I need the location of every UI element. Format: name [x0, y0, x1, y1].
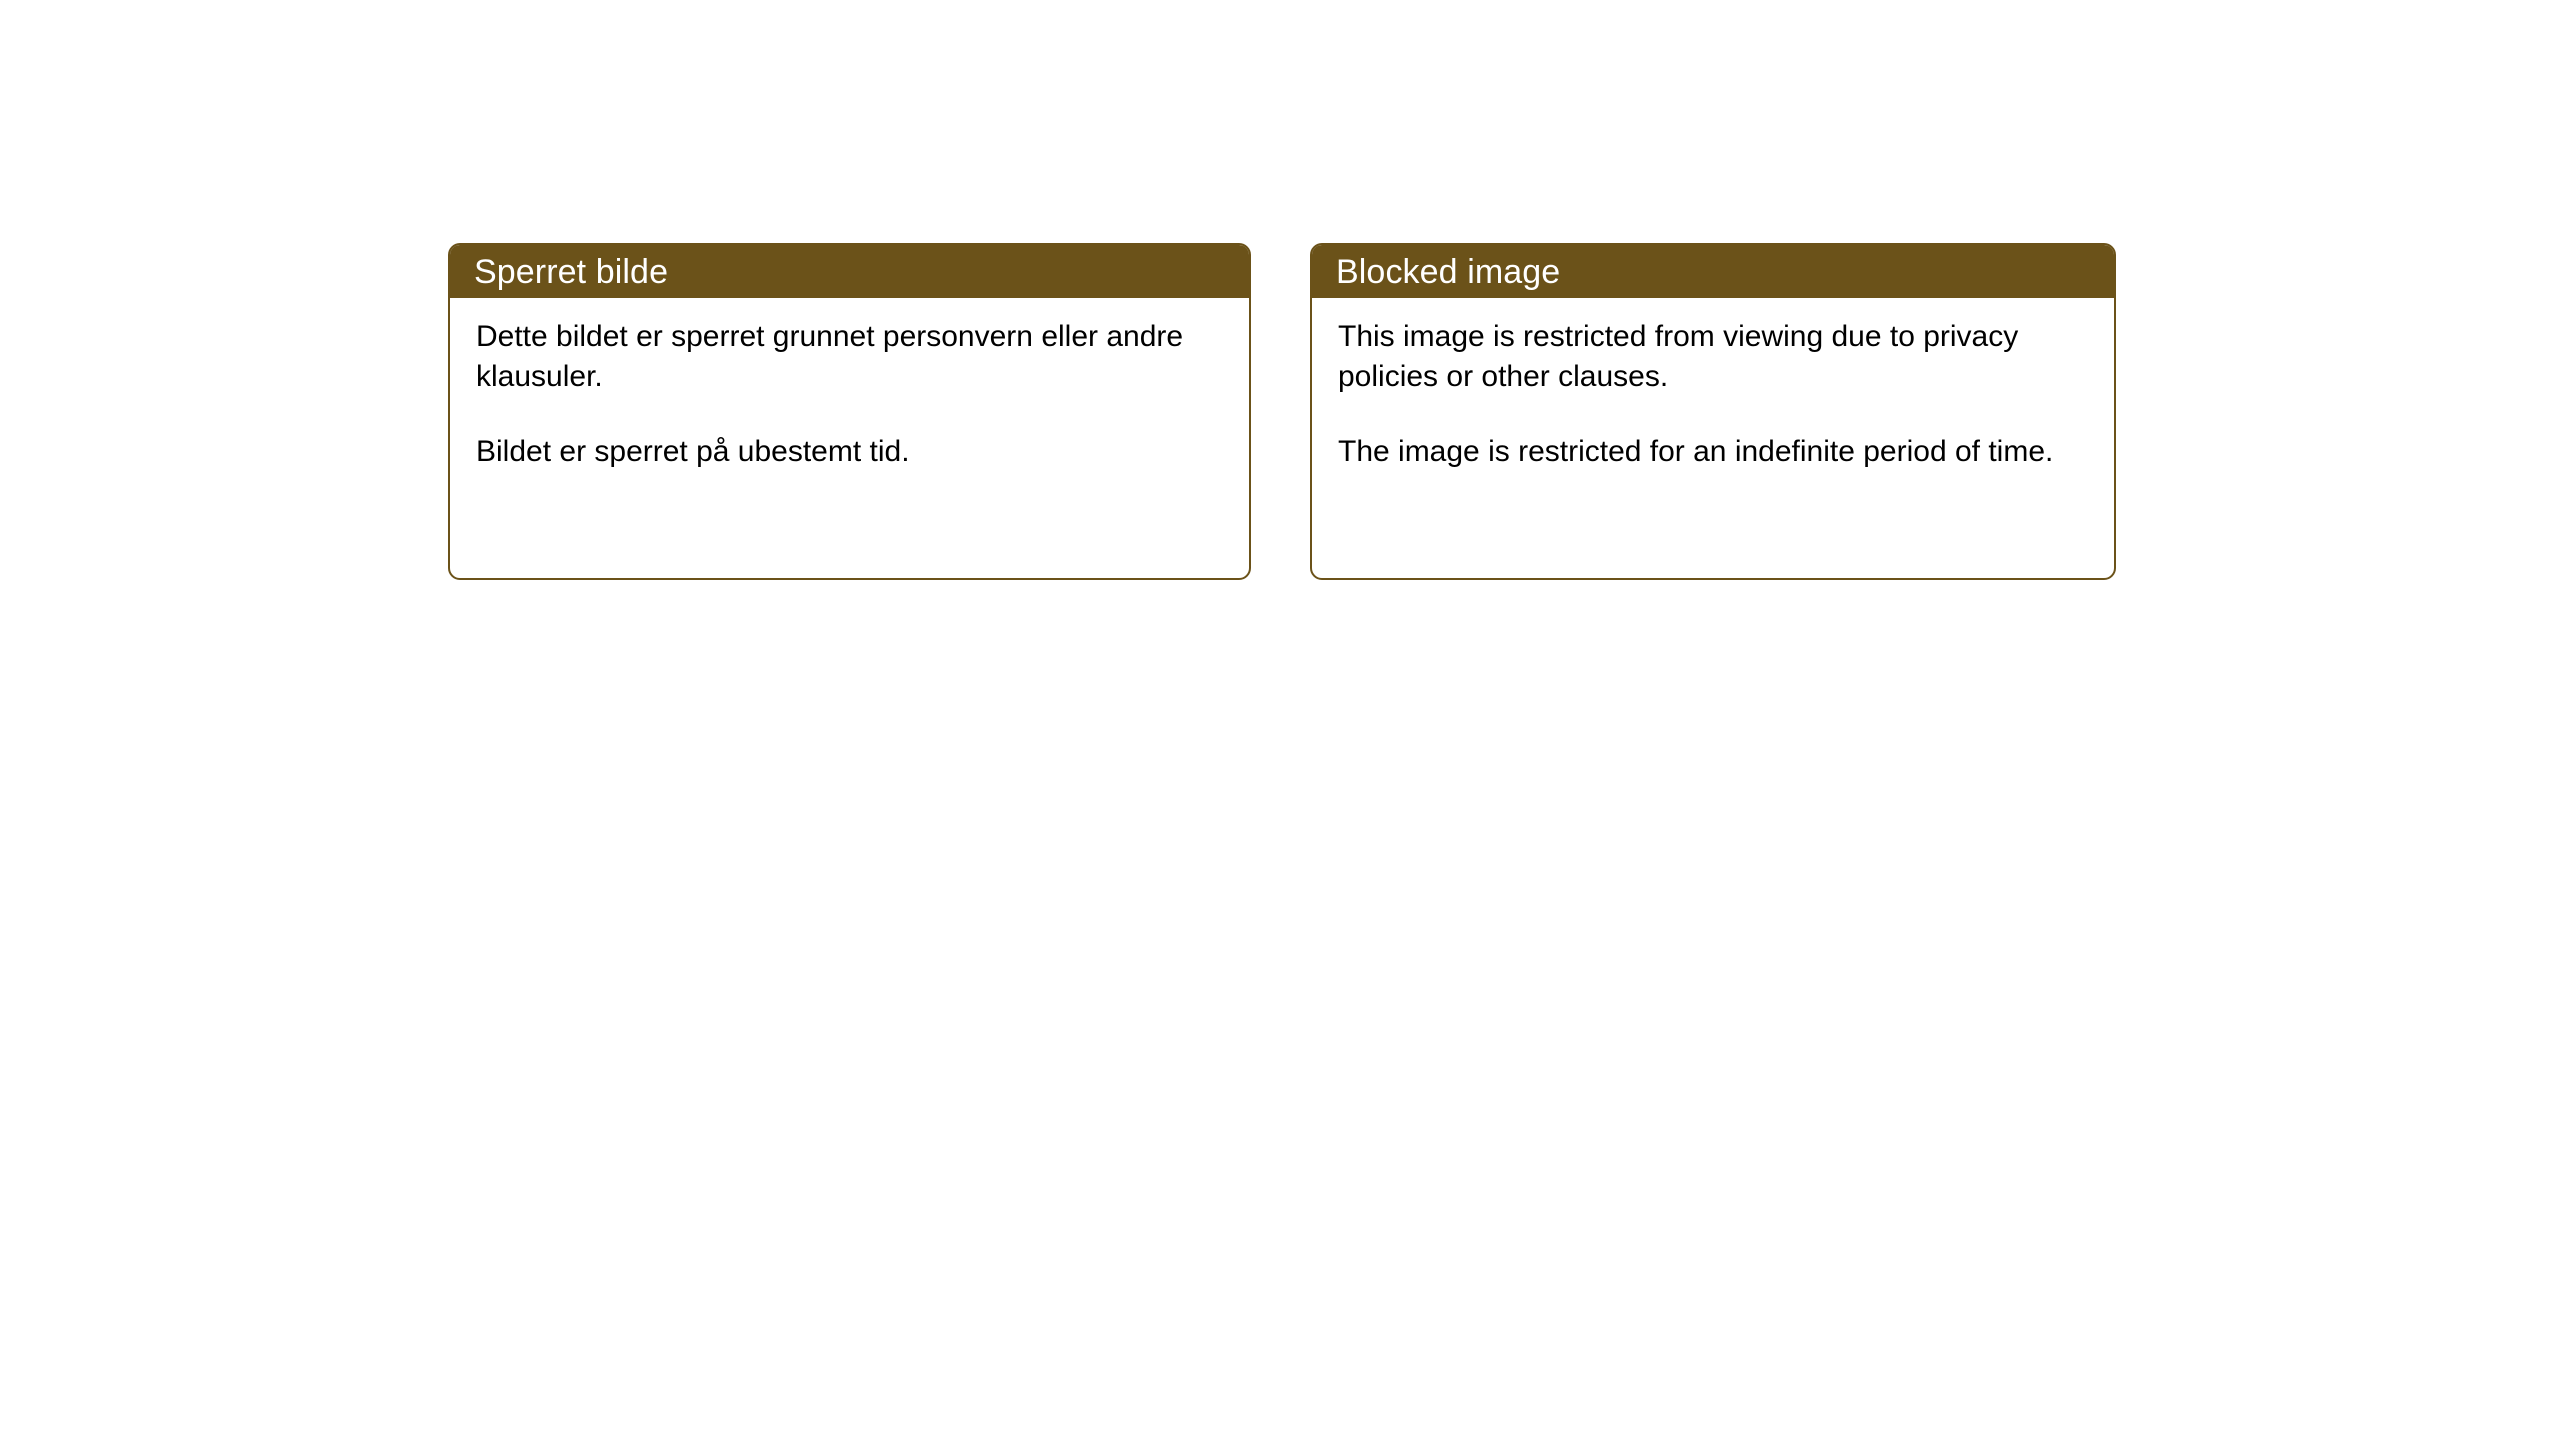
panel-header-english: Blocked image	[1310, 243, 2116, 298]
panel-paragraph-reason-english: This image is restricted from viewing du…	[1338, 317, 2092, 396]
panel-title-norwegian: Sperret bilde	[474, 255, 668, 289]
panel-paragraph-duration-english: The image is restricted for an indefinit…	[1338, 432, 2092, 472]
panel-paragraph-reason-norwegian: Dette bildet er sperret grunnet personve…	[476, 317, 1227, 396]
panel-body-norwegian: Dette bildet er sperret grunnet personve…	[450, 298, 1249, 472]
blocked-image-notice-panel-english: Blocked image This image is restricted f…	[1310, 243, 2116, 580]
panel-title-english: Blocked image	[1336, 255, 1560, 289]
panel-body-english: This image is restricted from viewing du…	[1312, 298, 2114, 472]
panel-header-norwegian: Sperret bilde	[448, 243, 1251, 298]
page-canvas: Sperret bilde Dette bildet er sperret gr…	[0, 0, 2560, 1440]
blocked-image-notice-panel-norwegian: Sperret bilde Dette bildet er sperret gr…	[448, 243, 1251, 580]
panel-paragraph-duration-norwegian: Bildet er sperret på ubestemt tid.	[476, 432, 1227, 472]
